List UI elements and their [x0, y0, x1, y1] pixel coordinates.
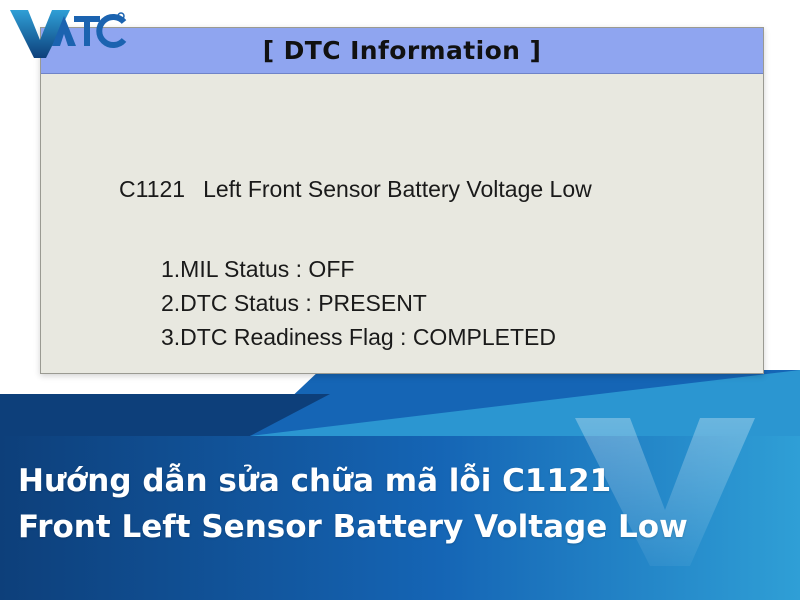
list-item: 2.DTC Status : PRESENT: [161, 286, 556, 320]
banner-line-1: Hướng dẫn sửa chữa mã lỗi C1121: [18, 458, 798, 504]
window-body: C1121Left Front Sensor Battery Voltage L…: [41, 74, 763, 372]
dtc-detail-list: 1.MIL Status : OFF 2.DTC Status : PRESEN…: [161, 252, 556, 354]
list-item: 3.DTC Readiness Flag : COMPLETED: [161, 320, 556, 354]
dtc-code: C1121: [119, 176, 185, 202]
list-item: 1.MIL Status : OFF: [161, 252, 556, 286]
banner-line-2: Front Left Sensor Battery Voltage Low: [18, 504, 798, 550]
dtc-description: Left Front Sensor Battery Voltage Low: [203, 176, 592, 202]
window-titlebar: [ DTC Information ]: [41, 28, 763, 74]
banner-heading: Hướng dẫn sửa chữa mã lỗi C1121 Front Le…: [18, 458, 798, 550]
dtc-header-row: C1121Left Front Sensor Battery Voltage L…: [119, 176, 592, 203]
window-title: [ DTC Information ]: [263, 36, 542, 65]
dtc-information-window: [ DTC Information ] C1121Left Front Sens…: [40, 27, 764, 374]
bottom-banner: Hướng dẫn sửa chữa mã lỗi C1121 Front Le…: [0, 370, 800, 600]
vatc-logo: [8, 6, 128, 62]
